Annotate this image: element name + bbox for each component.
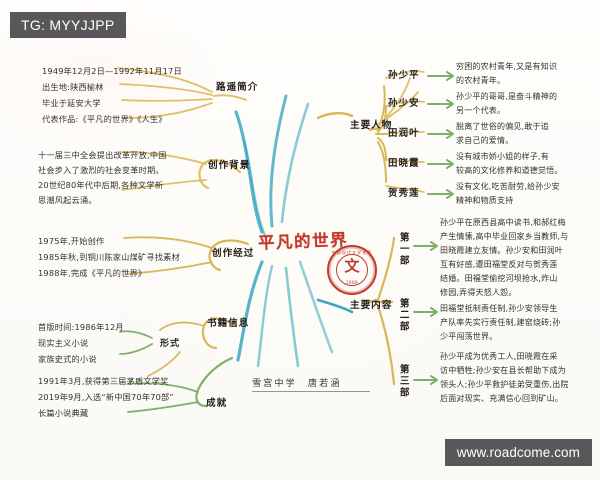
bookinfo-line-2: 现实主义小说 <box>38 338 88 349</box>
achievements-line-3: 长篇小说典藏 <box>38 408 88 419</box>
character-desc-2-line-1: 孙少平的哥哥,是奋斗精神的 <box>456 92 557 103</box>
character-desc-3-line-2: 求自己的爱情。 <box>456 136 513 147</box>
branch-label-content: 主要内容 <box>350 300 392 313</box>
bookinfo-line-1: 首版时间:1986年12月 <box>38 322 124 333</box>
character-name-2: 孙少安 <box>388 98 420 110</box>
background-line-4: 思潮风起云涌。 <box>38 195 97 206</box>
content-part-3-line-4: 后面对现实、充满信心回到矿山。 <box>440 394 563 405</box>
achievements-line-1: 1991年3月,获得第三届茅盾文学奖 <box>38 376 169 387</box>
character-desc-4-line-1: 没有城市娇小姐的样子,有 <box>456 152 549 163</box>
mindmap-canvas: 平凡的世界 中国现代文学名著 文 1988 雪宫中学 唐若涵 路遥简介 1949… <box>0 0 600 480</box>
background-line-2: 社会步入了激烈的社会变革时期。 <box>38 165 164 176</box>
character-desc-3-line-1: 脱离了世俗的偏见,敢于追 <box>456 122 549 133</box>
process-line-2: 1985年秋,到铜川陈家山煤矿寻找素材 <box>38 252 180 263</box>
seal-glyph: 文 <box>329 259 375 274</box>
branch-label-achievements: 成就 <box>206 398 227 411</box>
character-desc-5-line-2: 精神和物质支持 <box>456 196 513 207</box>
content-part-1-line-4: 互有好感,遭田福堂反对与贺秀莲 <box>440 260 558 271</box>
branch-label-characters: 主要人物 <box>350 120 392 133</box>
content-part-2-label: 第二部 <box>396 298 409 333</box>
sublabel-form: 形式 <box>160 339 180 351</box>
character-name-4: 田晓霞 <box>388 158 420 170</box>
content-part-1-line-5: 结婚。田福堂偷挖河坝抢水,炸山 <box>440 274 558 285</box>
intro-line-4: 代表作品:《平凡的世界》《人生》 <box>42 114 167 125</box>
intro-line-1: 1949年12月2日—1992年11月17日 <box>42 66 182 77</box>
character-desc-4-line-2: 较高的文化修养和道德觉悟。 <box>456 166 563 177</box>
telegram-watermark-badge: TG: MYYJJPP <box>10 12 126 38</box>
content-part-3-line-2: 访中牺牲;孙少安在县长帮助下成为 <box>440 366 566 377</box>
character-desc-1-line-2: 的农村青年。 <box>456 76 505 87</box>
achievements-line-2: 2019年9月,入选“新中国70年70部” <box>38 392 174 403</box>
content-part-1-line-3: 田晓霞建立友情。孙少安和田润叶 <box>440 246 563 257</box>
content-part-3-line-1: 孙少平成为优秀工人,田晓霞在采 <box>440 352 558 363</box>
background-line-3: 20世纪80年代中后期,各种文学新 <box>38 180 163 191</box>
branch-label-background: 创作背景 <box>208 160 250 173</box>
content-part-3-line-3: 领头人;孙少平救护徒弟受重伤,出院 <box>440 380 569 391</box>
content-part-1-line-6: 修园,弄得天怒人怨。 <box>440 288 517 299</box>
intro-line-3: 毕业于延安大学 <box>42 98 101 109</box>
character-name-3: 田润叶 <box>388 128 420 140</box>
character-desc-2-line-2: 另一个代表。 <box>456 106 505 117</box>
seal-year: 1988 <box>329 280 375 285</box>
character-name-1: 孙少平 <box>388 70 420 82</box>
bookinfo-line-3: 家族史式的小说 <box>38 354 97 365</box>
content-part-2-line-3: 少平闯荡世界。 <box>440 332 497 343</box>
content-part-1-line-2: 产生情愫,高中毕业回家乡当教师,与 <box>440 232 568 243</box>
character-desc-1-line-1: 穷困的农村青年,又是有知识 <box>456 62 557 73</box>
intro-line-2: 出生地:陕西榆林 <box>42 82 104 93</box>
content-part-1-label: 第一部 <box>396 232 409 267</box>
character-name-5: 贺秀莲 <box>388 188 420 200</box>
background-line-1: 十一届三中全会提出改革开放,中国 <box>38 150 167 161</box>
seal-arc-text: 中国现代文学名著 <box>329 250 375 256</box>
content-part-2-line-1: 田福堂抵制责任制,孙少安领导生 <box>440 304 558 315</box>
branch-label-intro: 路遥简介 <box>216 82 258 95</box>
process-line-3: 1988年,完成《平凡的世界》 <box>38 268 146 279</box>
content-part-2-line-2: 产队率先实行责任制,建窑烧砖;孙 <box>440 318 560 329</box>
branch-label-process: 创作经过 <box>212 248 254 261</box>
signature: 雪宫中学 唐若涵 <box>252 375 370 392</box>
content-part-1-line-1: 孙少平在原西县高中读书,和郝红梅 <box>440 218 566 229</box>
site-watermark-badge: www.roadcome.com <box>445 439 592 466</box>
red-seal-stamp: 中国现代文学名著 文 1988 <box>327 245 377 295</box>
content-part-3-label: 第三部 <box>396 364 409 399</box>
process-line-1: 1975年,开始创作 <box>38 236 104 247</box>
branch-label-bookinfo: 书籍信息 <box>207 318 249 331</box>
character-desc-5-line-1: 没有文化,吃苦耐劳,给孙少安 <box>456 182 560 193</box>
